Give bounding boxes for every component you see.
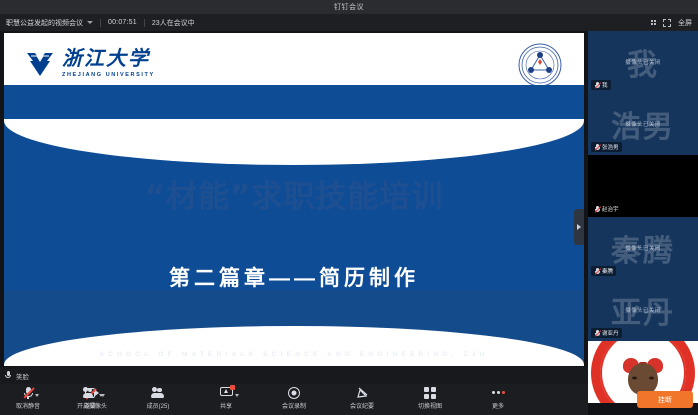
participant-tile[interactable]: 赵治宇 xyxy=(588,155,698,217)
slide-title: “材能”求职技能培训 xyxy=(4,171,584,216)
invite-button[interactable]: + 邀请 xyxy=(70,386,110,410)
fullscreen-icon[interactable] xyxy=(663,19,671,27)
zju-bird-logo-icon xyxy=(26,49,54,79)
participant-name: 谢亚丹 xyxy=(602,329,619,337)
toolbar-label: 成员(25) xyxy=(147,401,170,410)
share-button[interactable]: 共享 xyxy=(206,386,246,410)
chevron-down-icon[interactable] xyxy=(235,394,239,397)
screen-share-icon xyxy=(220,386,233,399)
slide-body xyxy=(4,85,584,366)
record-icon xyxy=(288,386,300,399)
university-name-cn: 浙江大学 xyxy=(62,49,155,69)
participant-name-badge: 谢亚丹 xyxy=(591,328,622,338)
university-name-en: ZHEJIANG UNIVERSITY xyxy=(62,72,155,78)
participants-rail[interactable]: 我 摄像头已关闭 我 浩男 摄像头已关闭 张浩男 xyxy=(588,31,698,415)
participant-count-status: 23人在会议中 xyxy=(152,18,195,28)
camera-off-label: 摄像头已关闭 xyxy=(588,306,698,314)
meeting-name[interactable]: 职慧公益发起的视频会议 xyxy=(6,18,83,28)
infobar-right-controls: 全屏 xyxy=(651,18,693,28)
record-button[interactable]: 会议录制 xyxy=(274,386,314,410)
participant-name-badge: 我 xyxy=(591,80,611,90)
participant-name-badge: 张浩男 xyxy=(591,142,622,152)
members-icon xyxy=(151,386,165,399)
microphone-icon xyxy=(5,371,12,380)
members-button[interactable]: 成员(25) xyxy=(138,386,178,410)
participant-name: 我 xyxy=(602,81,608,89)
meeting-info-bar: 职慧公益发起的视频会议 00:07:51 23人在会议中 全屏 xyxy=(0,14,698,31)
toolbar-label: 会议纪要 xyxy=(350,401,374,410)
participant-tile[interactable]: 浩男 摄像头已关闭 张浩男 xyxy=(588,93,698,155)
active-speaker-label: 笑脸 xyxy=(16,371,29,381)
slide-top-curve xyxy=(4,119,584,165)
minutes-button[interactable]: 会议纪要 xyxy=(342,386,382,410)
active-speaker-bar: 笑脸 xyxy=(0,367,588,384)
more-button[interactable]: 更多 xyxy=(478,386,518,410)
chevron-down-icon[interactable] xyxy=(87,21,93,24)
toolbar-label: 会议录制 xyxy=(282,401,306,410)
camera-off-label: 摄像头已关闭 xyxy=(588,244,698,252)
divider xyxy=(144,19,145,27)
next-slide-arrow-button[interactable] xyxy=(574,209,584,245)
app-title: 钉钉会议 xyxy=(334,2,364,12)
participant-tile[interactable]: 亚丹 摄像头已关闭 谢亚丹 xyxy=(588,279,698,341)
camera-off-label: 摄像头已关闭 xyxy=(588,58,698,66)
switch-layout-button[interactable]: 切换视图 xyxy=(410,386,450,410)
meeting-toolbar: 取消静音 开启摄像头 + 邀请 xyxy=(0,384,588,415)
hangup-button[interactable]: 挂断 xyxy=(637,391,693,408)
microphone-muted-icon xyxy=(23,386,33,399)
participant-tile[interactable]: 秦腾 摄像头已关闭 秦腾 xyxy=(588,217,698,279)
mute-toggle-button[interactable]: 取消静音 xyxy=(8,386,48,410)
microphone-muted-icon xyxy=(594,267,600,275)
slide-footer-en: SCHOOL OF MATERIALS SCIENCE AND ENGINEER… xyxy=(4,351,584,358)
minutes-pen-icon xyxy=(356,386,369,399)
invite-person-icon: + xyxy=(83,386,97,399)
window-title-bar: 钉钉会议 xyxy=(0,0,698,14)
toolbar-center-group: + 邀请 成员(25) 共享 xyxy=(70,386,518,410)
camera-off-label: 摄像头已关闭 xyxy=(588,120,698,128)
meeting-timer: 00:07:51 xyxy=(108,19,137,26)
toolbar-label: 取消静音 xyxy=(16,401,40,410)
dingtalk-meeting-window: 钉钉会议 职慧公益发起的视频会议 00:07:51 23人在会议中 全屏 xyxy=(0,0,698,415)
more-dots-icon xyxy=(492,386,505,399)
microphone-muted-icon xyxy=(594,329,600,337)
school-emblem-icon xyxy=(518,43,562,87)
zju-logo: 浙江大学 ZHEJIANG UNIVERSITY xyxy=(26,49,155,79)
toolbar-label: 切换视图 xyxy=(418,401,442,410)
grid-view-icon[interactable] xyxy=(651,20,657,26)
chevron-down-icon[interactable] xyxy=(99,394,103,397)
toolbar-label: 更多 xyxy=(492,401,504,410)
participant-tile[interactable]: 我 摄像头已关闭 我 xyxy=(588,31,698,93)
participant-name: 张浩男 xyxy=(602,143,619,151)
fullscreen-label[interactable]: 全屏 xyxy=(678,18,692,28)
layout-grid-icon xyxy=(424,386,436,399)
slide-header: 浙江大学 ZHEJIANG UNIVERSITY xyxy=(4,33,584,91)
microphone-muted-icon xyxy=(594,205,600,213)
chevron-down-icon[interactable] xyxy=(35,394,39,397)
zju-wordmark: 浙江大学 ZHEJIANG UNIVERSITY xyxy=(62,49,155,78)
divider xyxy=(100,19,101,27)
microphone-muted-icon xyxy=(594,143,600,151)
presentation-slide: 浙江大学 ZHEJIANG UNIVERSITY xyxy=(4,33,584,366)
microphone-muted-icon xyxy=(594,81,600,89)
participant-name: 赵治宇 xyxy=(602,205,619,213)
toolbar-label: 共享 xyxy=(220,401,232,410)
participant-name: 秦腾 xyxy=(602,267,613,275)
participant-name-badge: 秦腾 xyxy=(591,266,616,276)
slide-subtitle: 第二篇章——简历制作 xyxy=(4,262,584,292)
participant-name-badge: 赵治宇 xyxy=(591,204,622,214)
shared-content-stage: 浙江大学 ZHEJIANG UNIVERSITY xyxy=(0,31,588,367)
toolbar-label: 邀请 xyxy=(84,401,96,410)
avatar-eyes xyxy=(632,377,654,380)
